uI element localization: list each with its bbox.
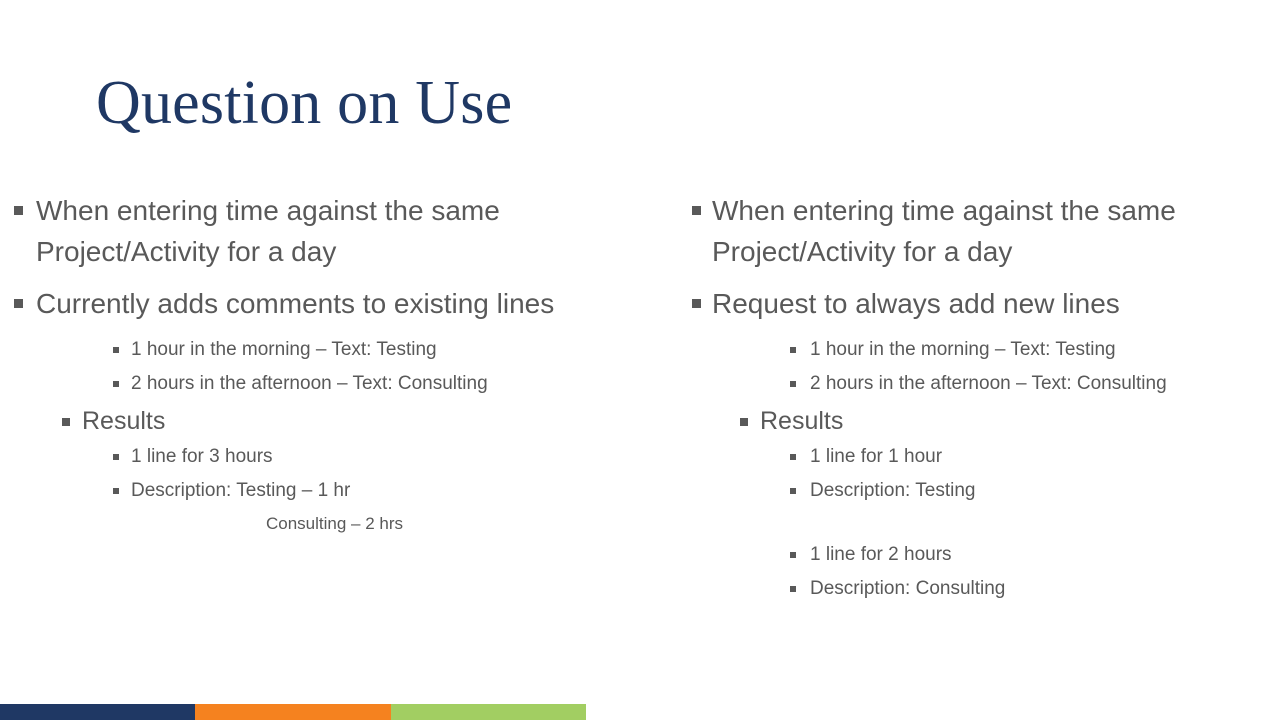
square-bullet-icon xyxy=(790,381,796,387)
results-label: Results xyxy=(760,403,1278,440)
square-bullet-icon xyxy=(692,299,701,308)
footer-accent-bar xyxy=(0,704,586,720)
left-content-column: When entering time against the same Proj… xyxy=(0,190,678,542)
square-bullet-icon xyxy=(692,206,701,215)
square-bullet-icon xyxy=(790,552,796,558)
result-item: 1 line for 3 hours xyxy=(0,442,678,472)
square-bullet-icon xyxy=(14,299,23,308)
square-bullet-icon xyxy=(14,206,23,215)
result-text: Description: Testing xyxy=(810,476,1278,506)
bullet-item: When entering time against the same Proj… xyxy=(682,190,1278,272)
right-content-column: When entering time against the same Proj… xyxy=(682,190,1278,608)
result-continuation-line: Consulting – 2 hrs xyxy=(0,510,678,538)
sub-bullet-text: 2 hours in the afternoon – Text: Consult… xyxy=(810,369,1278,399)
square-bullet-icon xyxy=(790,586,796,592)
results-heading: Results xyxy=(0,403,678,440)
page-title: Question on Use xyxy=(96,66,512,140)
sub-bullet-item: 2 hours in the afternoon – Text: Consult… xyxy=(0,369,678,399)
bullet-text: Currently adds comments to existing line… xyxy=(36,283,678,324)
sub-bullet-item: 2 hours in the afternoon – Text: Consult… xyxy=(682,369,1278,399)
result-item: Description: Testing xyxy=(682,476,1278,506)
result-text: Description: Consulting xyxy=(810,574,1278,604)
result-item: 1 line for 2 hours xyxy=(682,540,1278,570)
results-heading: Results xyxy=(682,403,1278,440)
accent-bar-segment-green xyxy=(391,704,586,720)
bullet-item: Currently adds comments to existing line… xyxy=(0,283,678,324)
square-bullet-icon xyxy=(113,381,119,387)
square-bullet-icon xyxy=(113,347,119,353)
blank-spacer-row xyxy=(682,510,1278,540)
bullet-item: Request to always add new lines xyxy=(682,283,1278,324)
bullet-text: Request to always add new lines xyxy=(712,283,1278,324)
square-bullet-icon xyxy=(740,418,748,426)
square-bullet-icon xyxy=(790,454,796,460)
result-item: Description: Testing – 1 hr xyxy=(0,476,678,506)
accent-bar-segment-orange xyxy=(195,704,391,720)
result-text: 1 line for 3 hours xyxy=(131,442,678,472)
sub-bullet-item: 1 hour in the morning – Text: Testing xyxy=(682,335,1278,365)
sub-bullet-text: 1 hour in the morning – Text: Testing xyxy=(131,335,678,365)
sub-bullet-item: 1 hour in the morning – Text: Testing xyxy=(0,335,678,365)
result-item: 1 line for 1 hour xyxy=(682,442,1278,472)
bullet-text: When entering time against the same Proj… xyxy=(36,190,678,272)
result-text: 1 line for 2 hours xyxy=(810,540,1278,570)
square-bullet-icon xyxy=(62,418,70,426)
result-item: Description: Consulting xyxy=(682,574,1278,604)
square-bullet-icon xyxy=(113,488,119,494)
square-bullet-icon xyxy=(790,488,796,494)
bullet-item: When entering time against the same Proj… xyxy=(0,190,678,272)
result-text: Description: Testing – 1 hr xyxy=(131,476,678,506)
results-label: Results xyxy=(82,403,678,440)
sub-bullet-text: 2 hours in the afternoon – Text: Consult… xyxy=(131,369,678,399)
square-bullet-icon xyxy=(113,454,119,460)
accent-bar-segment-navy xyxy=(0,704,195,720)
result-text: 1 line for 1 hour xyxy=(810,442,1278,472)
square-bullet-icon xyxy=(790,347,796,353)
bullet-text: When entering time against the same Proj… xyxy=(712,190,1278,272)
sub-bullet-text: 1 hour in the morning – Text: Testing xyxy=(810,335,1278,365)
result-continuation-text: Consulting – 2 hrs xyxy=(266,510,678,538)
